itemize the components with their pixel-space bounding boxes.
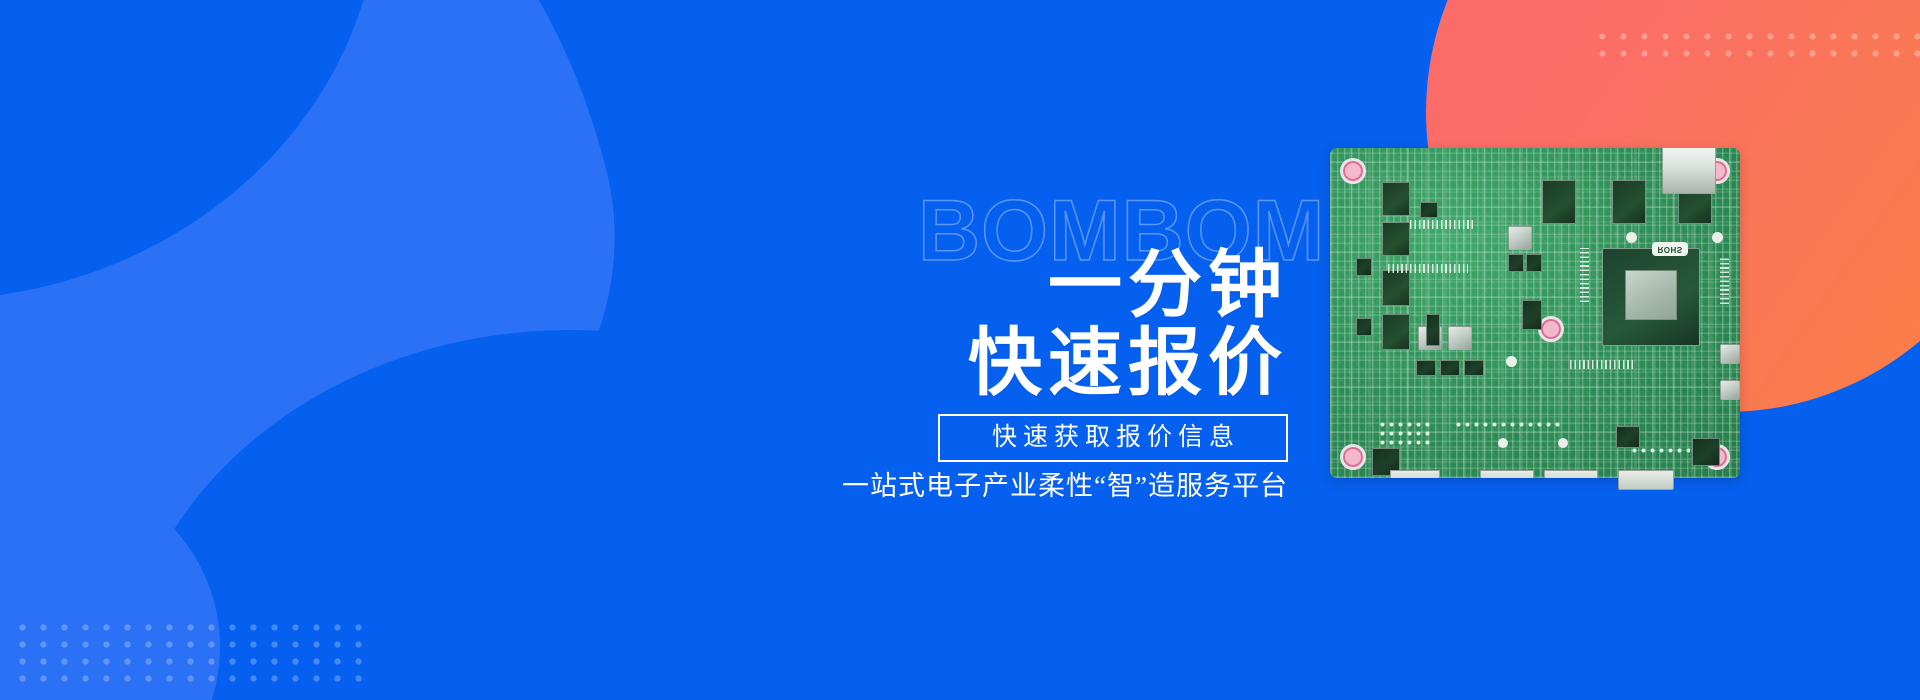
pcb-mount-hole: [1340, 444, 1366, 470]
headline-line-2: 快速报价: [938, 324, 1288, 402]
pcb-via-array: [1630, 446, 1690, 456]
pcb-inductor: [1720, 380, 1740, 400]
pcb-test-pad: [1498, 438, 1508, 448]
pcb-pin-strip: [1570, 360, 1634, 369]
pcb-chip: [1356, 258, 1372, 276]
pcb-chip: [1508, 254, 1524, 272]
pcb-substrate: ROHS: [1330, 148, 1740, 478]
pcb-chip: [1522, 300, 1542, 330]
pcb-test-pad: [1712, 232, 1723, 243]
pcb-chip: [1692, 438, 1720, 466]
headline-group: 一分钟 快速报价: [938, 246, 1288, 403]
promo-banner: BOMBOM 一分钟 快速报价 快速获取报价信息 一站式电子产业柔性“智”造服务…: [0, 0, 1920, 700]
pcb-test-pad: [1626, 232, 1637, 243]
pcb-board-image: ROHS: [1330, 148, 1740, 478]
pcb-chip: [1612, 180, 1646, 224]
pcb-pin-strip: [1720, 256, 1729, 304]
pcb-io-port: [1480, 470, 1534, 478]
pcb-chip: [1416, 360, 1436, 376]
pcb-chip: [1382, 222, 1410, 256]
pcb-inductor: [1448, 326, 1472, 350]
pcb-inductor: [1720, 344, 1740, 364]
subtitle-text: 快速获取报价信息: [940, 425, 1286, 450]
pcb-via-array: [1454, 420, 1564, 430]
pcb-pin-strip: [1580, 248, 1589, 302]
pcb-rohs-label: ROHS: [1652, 242, 1688, 256]
pcb-card-connector: [1662, 148, 1716, 194]
subtitle-bordered-box: 快速获取报价信息: [938, 414, 1288, 462]
pcb-chip: [1420, 202, 1438, 218]
pcb-chip: [1426, 314, 1440, 346]
pcb-pin-strip: [1388, 264, 1468, 273]
pcb-cpu-die: [1625, 270, 1677, 320]
pcb-mount-hole: [1340, 158, 1366, 184]
pcb-io-port: [1544, 470, 1598, 478]
pcb-chip: [1356, 318, 1372, 336]
pcb-via-array: [1378, 420, 1434, 448]
pcb-chip: [1542, 180, 1576, 224]
pcb-chip: [1382, 182, 1410, 216]
pcb-test-pad: [1506, 356, 1517, 367]
pcb-chip: [1382, 314, 1410, 350]
pcb-test-pad: [1558, 438, 1568, 448]
pcb-chip: [1526, 254, 1542, 272]
tagline-text: 一站式电子产业柔性“智”造服务平台: [838, 470, 1288, 502]
pcb-cpu-chip: [1602, 248, 1700, 346]
pcb-chip: [1616, 426, 1640, 448]
pcb-chip: [1382, 270, 1410, 306]
pcb-chip: [1464, 360, 1484, 376]
pcb-edge-connector: [1618, 470, 1674, 490]
headline-line-1: 一分钟: [938, 246, 1288, 324]
pcb-pin-strip: [1410, 220, 1474, 229]
pcb-inductor: [1508, 226, 1532, 250]
pcb-io-port: [1390, 470, 1440, 478]
pcb-chip: [1440, 360, 1460, 376]
